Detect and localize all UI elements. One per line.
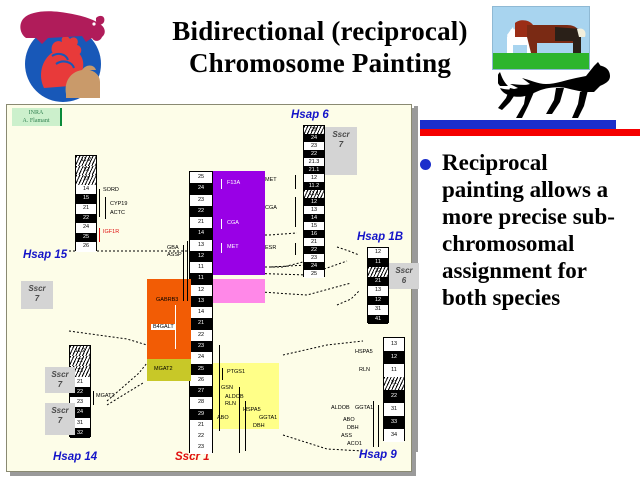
chromosome-band: 11 [384, 364, 404, 377]
marker-tick [99, 189, 100, 217]
chromosome-band: 11.2 [70, 346, 90, 356]
slide-root: Bidirectional (reciprocal) Chromosome Pa… [0, 0, 640, 480]
assignment-number: 7 [325, 140, 357, 150]
marker-hsap9-hspa5: HSPA5 [355, 349, 373, 356]
chromosome-band: 15 [76, 194, 96, 204]
chromosome-hsap15: 11.2121314152122242526 [75, 155, 97, 251]
marker-hsap9-rln: RLN [359, 367, 370, 374]
chromosome-band: 21 [384, 377, 404, 390]
gene-met: MET [227, 244, 239, 250]
assignment-number: 7 [21, 294, 53, 304]
marker-hsap9-ass: ASS [341, 433, 352, 440]
marker-tick [239, 387, 240, 453]
title-line-2: Chromosome Painting [120, 48, 520, 80]
bullet-panel: Reciprocal painting allows a more precis… [420, 150, 636, 450]
marker-tick [187, 241, 188, 301]
chromosome-band: 21.1 [304, 166, 324, 174]
marker-tick [105, 197, 106, 219]
chromosome-hsap9: 1312112122313334 [383, 337, 405, 441]
chromosome-band: 12 [76, 166, 96, 176]
chromosome-band: 21 [368, 277, 388, 287]
assignment-species: Sscr [45, 406, 75, 416]
marker-sscr1-assp: ASSP [167, 252, 182, 259]
chromosome-band: 11 [190, 262, 212, 273]
chromosome-band: 24 [76, 223, 96, 233]
marker-sscr1-gba: GBA [167, 245, 179, 252]
chromosome-band: 13 [368, 286, 388, 296]
chromosome-band: 24 [304, 134, 324, 142]
chromosome-band: 28 [190, 397, 212, 408]
chromosome-band: 13 [384, 338, 404, 351]
label-hsap15: Hsap 15 [23, 249, 67, 261]
marker-hsap9-ggta1: GGTA1 [355, 405, 373, 412]
marker-tick [295, 197, 296, 227]
chromosome-band: 14 [304, 214, 324, 222]
gene-rln: RLN [225, 401, 236, 407]
marker-hsap6-met: MET [265, 177, 277, 184]
paint-block-pink [213, 279, 265, 303]
chromosome-band: 22 [190, 431, 212, 442]
chromosome-band: 11.2 [76, 156, 96, 166]
chromosome-band: 12 [304, 174, 324, 182]
marker-tick [378, 405, 379, 447]
chromosome-band: 21 [76, 204, 96, 214]
chromosome-band: 31 [384, 403, 404, 416]
assignment-number: 6 [389, 276, 419, 286]
chromosome-band: 14 [190, 228, 212, 239]
bullet-text: Reciprocal painting allows a more precis… [442, 150, 632, 311]
gene-ptgs1: PTGS1 [227, 369, 245, 375]
assignment-sscr7-hsap14a: Sscr 7 [45, 367, 75, 393]
chromosome-band: 21 [190, 217, 212, 228]
chromosome-band: 25 [190, 364, 212, 375]
marker-tick [93, 391, 94, 405]
chromosome-band: 24 [304, 262, 324, 270]
chromosome-band: 26 [76, 242, 96, 252]
title-line-1: Bidirectional (reciprocal) [120, 16, 520, 48]
chromosome-band: 13 [76, 175, 96, 185]
assignment-sscr7-hsap14b: Sscr 7 [45, 403, 75, 435]
chromosome-band: 23 [304, 142, 324, 150]
chromosome-band: 12 [190, 285, 212, 296]
marker-tick [245, 401, 246, 451]
chromosome-band: 26 [190, 375, 212, 386]
marker-hsap15-sord: SORD [103, 187, 119, 194]
horse-silhouette [498, 62, 618, 122]
chromosome-band: 22 [304, 150, 324, 158]
chromosome-band: 25 [190, 172, 212, 183]
chromosome-band: 22 [384, 390, 404, 403]
chromosome-band: 33 [384, 416, 404, 429]
paint-block-yellow: PTGS1 GSN ALDOB RLN HSPA5 GGTA1 DBH ABO [213, 363, 279, 429]
chromosome-band: 22 [304, 246, 324, 254]
chromosome-band: 22 [76, 214, 96, 224]
chromosome-band: 11 [368, 258, 388, 268]
chromosome-band: 13 [304, 206, 324, 214]
chromosome-band: 13 [190, 240, 212, 251]
paint-block-olive: MGAT2 [147, 359, 191, 381]
gene-b4galt: B4GALT [151, 324, 176, 330]
label-hsap6: Hsap 6 [291, 109, 329, 121]
assignment-species: Sscr [21, 284, 53, 294]
marker-tick-red [99, 228, 100, 242]
gene-ggta1: GGTA1 [259, 415, 277, 421]
gene-cga: CGA [227, 220, 239, 226]
chromosome-band: 14 [76, 185, 96, 195]
chromosome-band: 21 [190, 318, 212, 329]
gene-dbh: DBH [253, 423, 265, 429]
assignment-number: 7 [45, 380, 75, 390]
label-hsap1b: Hsap 1B [357, 231, 403, 243]
marker-hsap14-mgat2: MGAT2 [96, 393, 115, 400]
chromosome-band: 25 [304, 126, 324, 134]
chromosome-band: 25 [76, 233, 96, 243]
chromosome-band: 24 [190, 352, 212, 363]
gene-aldob: ALDOB [225, 394, 244, 400]
assignment-sscr6-hsap1b: Sscr 6 [389, 263, 419, 289]
chromosome-band: 25 [304, 270, 324, 278]
chromosome-band: 21 [190, 420, 212, 431]
assignment-species: Sscr [389, 266, 419, 276]
chromosome-band: 41 [368, 315, 388, 325]
chromosome-band: 12 [384, 351, 404, 364]
chromosome-band: 12 [70, 356, 90, 366]
pig-rooster-inra-logo [8, 2, 118, 102]
gene-gabrb3: GABRB3 [156, 297, 178, 303]
chromosome-band: 23 [190, 341, 212, 352]
label-hsap9: Hsap 9 [359, 449, 397, 461]
slide-title: Bidirectional (reciprocal) Chromosome Pa… [120, 16, 520, 80]
chromosome-band: 21.3 [304, 158, 324, 166]
accent-bar-blue [420, 120, 616, 129]
chromosome-band: 34 [384, 429, 404, 442]
chromosome-band: 21 [304, 238, 324, 246]
chromosome-band: 15 [304, 222, 324, 230]
gene-f13a: F13A [227, 180, 240, 186]
chromosome-band: 23 [190, 195, 212, 206]
marker-tick [295, 243, 296, 255]
assignment-species: Sscr [45, 370, 75, 380]
chromosome-band: 32 [368, 267, 388, 277]
chromosome-hsap1b: 1211322113123141 [367, 247, 389, 323]
chromosome-band: 12 [368, 296, 388, 306]
chromosome-band: 23 [304, 254, 324, 262]
chromosome-sscr1: 2524232221141312111112131421222324252627… [189, 171, 213, 453]
paint-block-purple: F13A CGA MET [213, 171, 265, 275]
chromosome-band: 11 [190, 273, 212, 284]
bullet-dot-icon [420, 150, 442, 170]
chromosome-band: 22 [190, 330, 212, 341]
chromosome-band: 11.1 [304, 190, 324, 198]
gene-mgat2: MGAT2 [154, 366, 173, 372]
chromosome-band: 24 [190, 183, 212, 194]
chromosome-hsap6: 2524232221.321.11211.211.112131415162122… [303, 125, 325, 277]
diagram-panel: INRA A. Flamant [6, 104, 412, 472]
marker-hsap9-aco1: ACO1 [347, 441, 362, 448]
assignment-species: Sscr [325, 130, 357, 140]
marker-hsap15-actc: ACTC [110, 210, 125, 217]
chromosome-band: 23 [190, 442, 212, 453]
chromosome-band: 12 [368, 248, 388, 258]
marker-tick [373, 401, 374, 447]
accent-bar-red [420, 129, 640, 136]
assignment-number: 7 [45, 416, 75, 426]
marker-hsap6-esr: ESR [265, 245, 276, 252]
assignment-sscr7-hsap6: Sscr 7 [325, 127, 357, 175]
marker-hsap9-abo: ABO [343, 417, 355, 424]
chromosome-band: 27 [190, 386, 212, 397]
paint-block-orange: GABRB3 B4GALT [147, 279, 191, 359]
marker-tick [219, 345, 220, 431]
label-hsap14: Hsap 14 [53, 451, 97, 463]
chromosome-band: 22 [190, 206, 212, 217]
marker-hsap9-dbh: DBH [347, 425, 359, 432]
cow-photo [492, 6, 590, 70]
marker-tick [183, 245, 184, 301]
marker-hsap15-igf1r: IGF1R [103, 229, 119, 236]
marker-tick [295, 175, 296, 189]
chromosome-band: 11.2 [304, 182, 324, 190]
gene-gsn: GSN [221, 385, 233, 391]
chromosome-band: 29 [190, 409, 212, 420]
chromosome-band: 31 [368, 305, 388, 315]
marker-hsap9-aldob: ALDOB [331, 405, 350, 412]
chromosome-band: 13 [190, 296, 212, 307]
marker-hsap6-cga: CGA [265, 205, 277, 212]
chromosome-band: 12 [190, 251, 212, 262]
chromosome-band: 12 [304, 198, 324, 206]
chromosome-band: 14 [190, 307, 212, 318]
marker-hsap15-cyp19: CYP19 [110, 201, 127, 208]
chromosome-band: 16 [304, 230, 324, 238]
assignment-sscr7-hsap15: Sscr 7 [21, 281, 53, 309]
